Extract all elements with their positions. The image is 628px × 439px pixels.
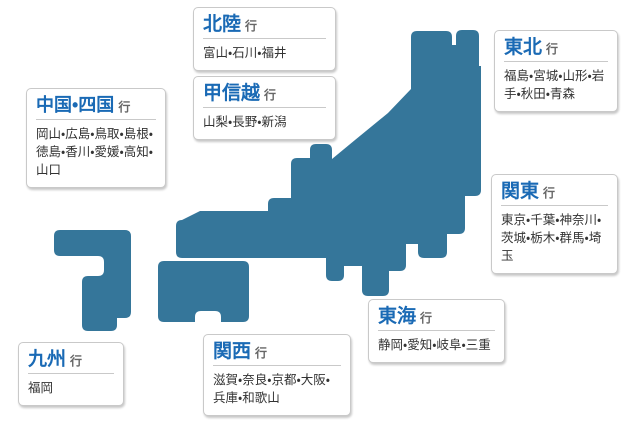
region-card-header: 甲信越行	[203, 84, 326, 108]
region-card-hokuriku[interactable]: 北陸行 富山・石川・福井	[193, 7, 336, 71]
region-suffix: 行	[546, 42, 558, 56]
region-suffix: 行	[255, 346, 267, 360]
region-title: 東海	[378, 306, 416, 327]
region-card-tohoku[interactable]: 東北行 福島・宮城・山形・岩手・秋田・青森	[494, 30, 618, 112]
region-title: 東北	[504, 37, 542, 58]
region-title: 北陸	[203, 14, 241, 35]
map-region-shikoku	[158, 261, 249, 322]
region-card-header: 関東行	[501, 182, 608, 206]
region-title: 中国•四国	[36, 95, 114, 115]
region-card-tokai[interactable]: 東海行 静岡・愛知・岐阜・三重	[368, 299, 505, 363]
region-card-header: 九州行	[28, 350, 114, 374]
region-card-chugoku-shikoku[interactable]: 中国•四国行 岡山・広島・鳥取・島根・徳島・香川・愛媛・高知・山口	[26, 88, 166, 188]
region-prefecture-list: 富山・石川・福井	[203, 44, 326, 62]
region-card-kansai[interactable]: 関西行 滋賀・奈良・京都・大阪・兵庫・和歌山	[203, 334, 351, 416]
region-prefecture-list: 福岡	[28, 379, 114, 397]
region-suffix: 行	[543, 186, 555, 200]
japan-region-map-page: 中国•四国行 岡山・広島・鳥取・島根・徳島・香川・愛媛・高知・山口 北陸行 富山…	[0, 0, 628, 439]
region-prefecture-list: 岡山・広島・鳥取・島根・徳島・香川・愛媛・高知・山口	[36, 125, 156, 179]
region-suffix: 行	[420, 311, 432, 325]
region-card-kanto[interactable]: 関東行 東京・千葉・神奈川・茨城・栃木・群馬・埼玉	[491, 174, 618, 274]
region-card-header: 東北行	[504, 38, 608, 62]
region-card-kyushu[interactable]: 九州行 福岡	[18, 342, 124, 406]
region-suffix: 行	[70, 354, 82, 368]
region-prefecture-list: 福島・宮城・山形・岩手・秋田・青森	[504, 67, 608, 103]
region-prefecture-list: 静岡・愛知・岐阜・三重	[378, 336, 495, 354]
region-prefecture-list: 滋賀・奈良・京都・大阪・兵庫・和歌山	[213, 371, 341, 407]
region-suffix: 行	[245, 19, 257, 33]
region-title: 九州	[28, 349, 66, 370]
region-card-header: 東海行	[378, 307, 495, 331]
region-suffix: 行	[264, 88, 276, 102]
region-card-header: 関西行	[213, 342, 341, 366]
map-region-kyushu	[54, 230, 131, 331]
region-title: 関西	[213, 341, 251, 362]
region-card-koshinetsu[interactable]: 甲信越行 山梨・長野・新潟	[193, 76, 336, 140]
region-prefecture-list: 東京・千葉・神奈川・茨城・栃木・群馬・埼玉	[501, 211, 608, 265]
region-card-header: 中国•四国行	[36, 96, 156, 120]
region-title: 甲信越	[203, 83, 260, 104]
region-prefecture-list: 山梨・長野・新潟	[203, 113, 326, 131]
region-suffix: 行	[118, 100, 130, 114]
region-title: 関東	[501, 181, 539, 202]
region-card-header: 北陸行	[203, 15, 326, 39]
